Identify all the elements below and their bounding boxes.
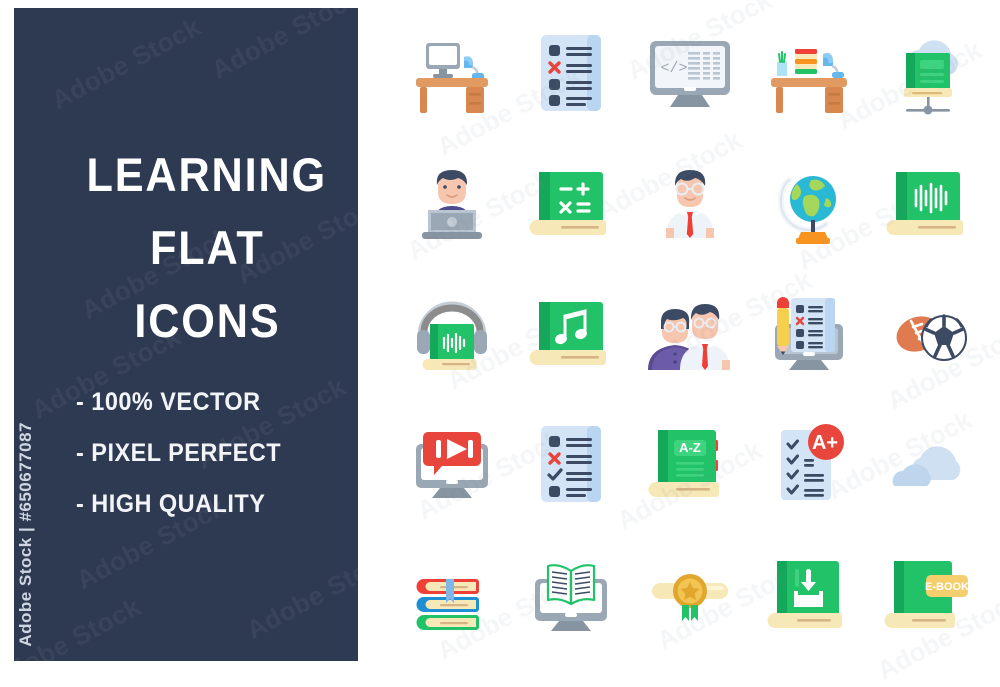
audio-book-waveform-icon (869, 138, 988, 268)
download-book-icon (750, 530, 869, 660)
ebook-icon: E-BOOK (869, 530, 988, 660)
poster-canvas: Adobe Stock Adobe Stock Adobe Stock Adob… (0, 0, 1000, 669)
video-tutorial-monitor-icon (392, 399, 511, 529)
panel-content: LEARNING FLAT ICONS - 100% VECTOR - PIXE… (70, 8, 344, 661)
feature-list: - 100% VECTOR - PIXEL PERFECT - HIGH QUA… (70, 388, 344, 519)
globe-icon (750, 138, 869, 268)
certificate-award-icon (630, 530, 749, 660)
book-stack-icon (392, 530, 511, 660)
desk-books-lamp-icon (750, 8, 869, 138)
teachers-pair-icon (630, 269, 749, 399)
student-laptop-icon (392, 138, 511, 268)
feature-item-vector: - 100% VECTOR (76, 388, 261, 417)
e-reading-monitor-icon (511, 530, 630, 660)
coding-monitor-icon: </> (630, 8, 749, 138)
feature-item-high-quality: - HIGH QUALITY (76, 490, 265, 519)
audiobook-headphones-icon (392, 269, 511, 399)
ebook-label: E-BOOK (925, 581, 969, 593)
teacher-male-icon (630, 138, 749, 268)
page-title-line-3: ICONS (134, 297, 280, 344)
left-info-panel: Adobe Stock Adobe Stock Adobe Stock Adob… (14, 8, 358, 661)
grade-label: A+ (812, 432, 838, 454)
study-desk-computer-icon (392, 8, 511, 138)
svg-text:</>: </> (660, 60, 687, 77)
cloud-icon (869, 399, 988, 529)
grade-result-icon: A+ (750, 399, 869, 529)
math-book-icon (511, 138, 630, 268)
dictionary-label: A-Z (679, 440, 701, 455)
cloud-library-book-icon (869, 8, 988, 138)
music-book-icon (511, 269, 630, 399)
dictionary-book-icon: A-Z (630, 399, 749, 529)
exam-checklist-icon (511, 399, 630, 529)
feature-item-pixel-perfect: - PIXEL PERFECT (76, 439, 281, 468)
sports-balls-icon (869, 269, 988, 399)
checklist-document-icon (511, 8, 630, 138)
page-title-line-2: FLAT (150, 224, 265, 271)
online-test-monitor-icon (750, 269, 869, 399)
page-title-line-1: LEARNING (87, 151, 328, 198)
icon-grid: </> (392, 8, 988, 660)
stock-credit-label: Adobe Stock | #650677087 (16, 422, 46, 647)
